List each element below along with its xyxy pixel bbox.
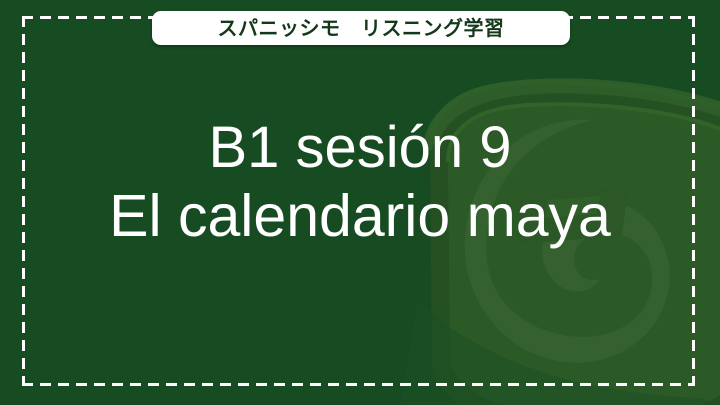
watermark-bottom-sweep	[400, 300, 720, 405]
page-title: B1 sesión 9 El calendario maya	[0, 114, 720, 250]
title-line-topic: El calendario maya	[0, 182, 720, 250]
slide-canvas: スパニッシモ リスニング学習 B1 sesión 9 El calendario…	[0, 0, 720, 405]
frame-edge-bottom	[22, 383, 695, 386]
title-line-session: B1 sesión 9	[0, 114, 720, 182]
header-badge: スパニッシモ リスニング学習	[152, 11, 570, 45]
header-badge-label: スパニッシモ リスニング学習	[218, 18, 505, 38]
